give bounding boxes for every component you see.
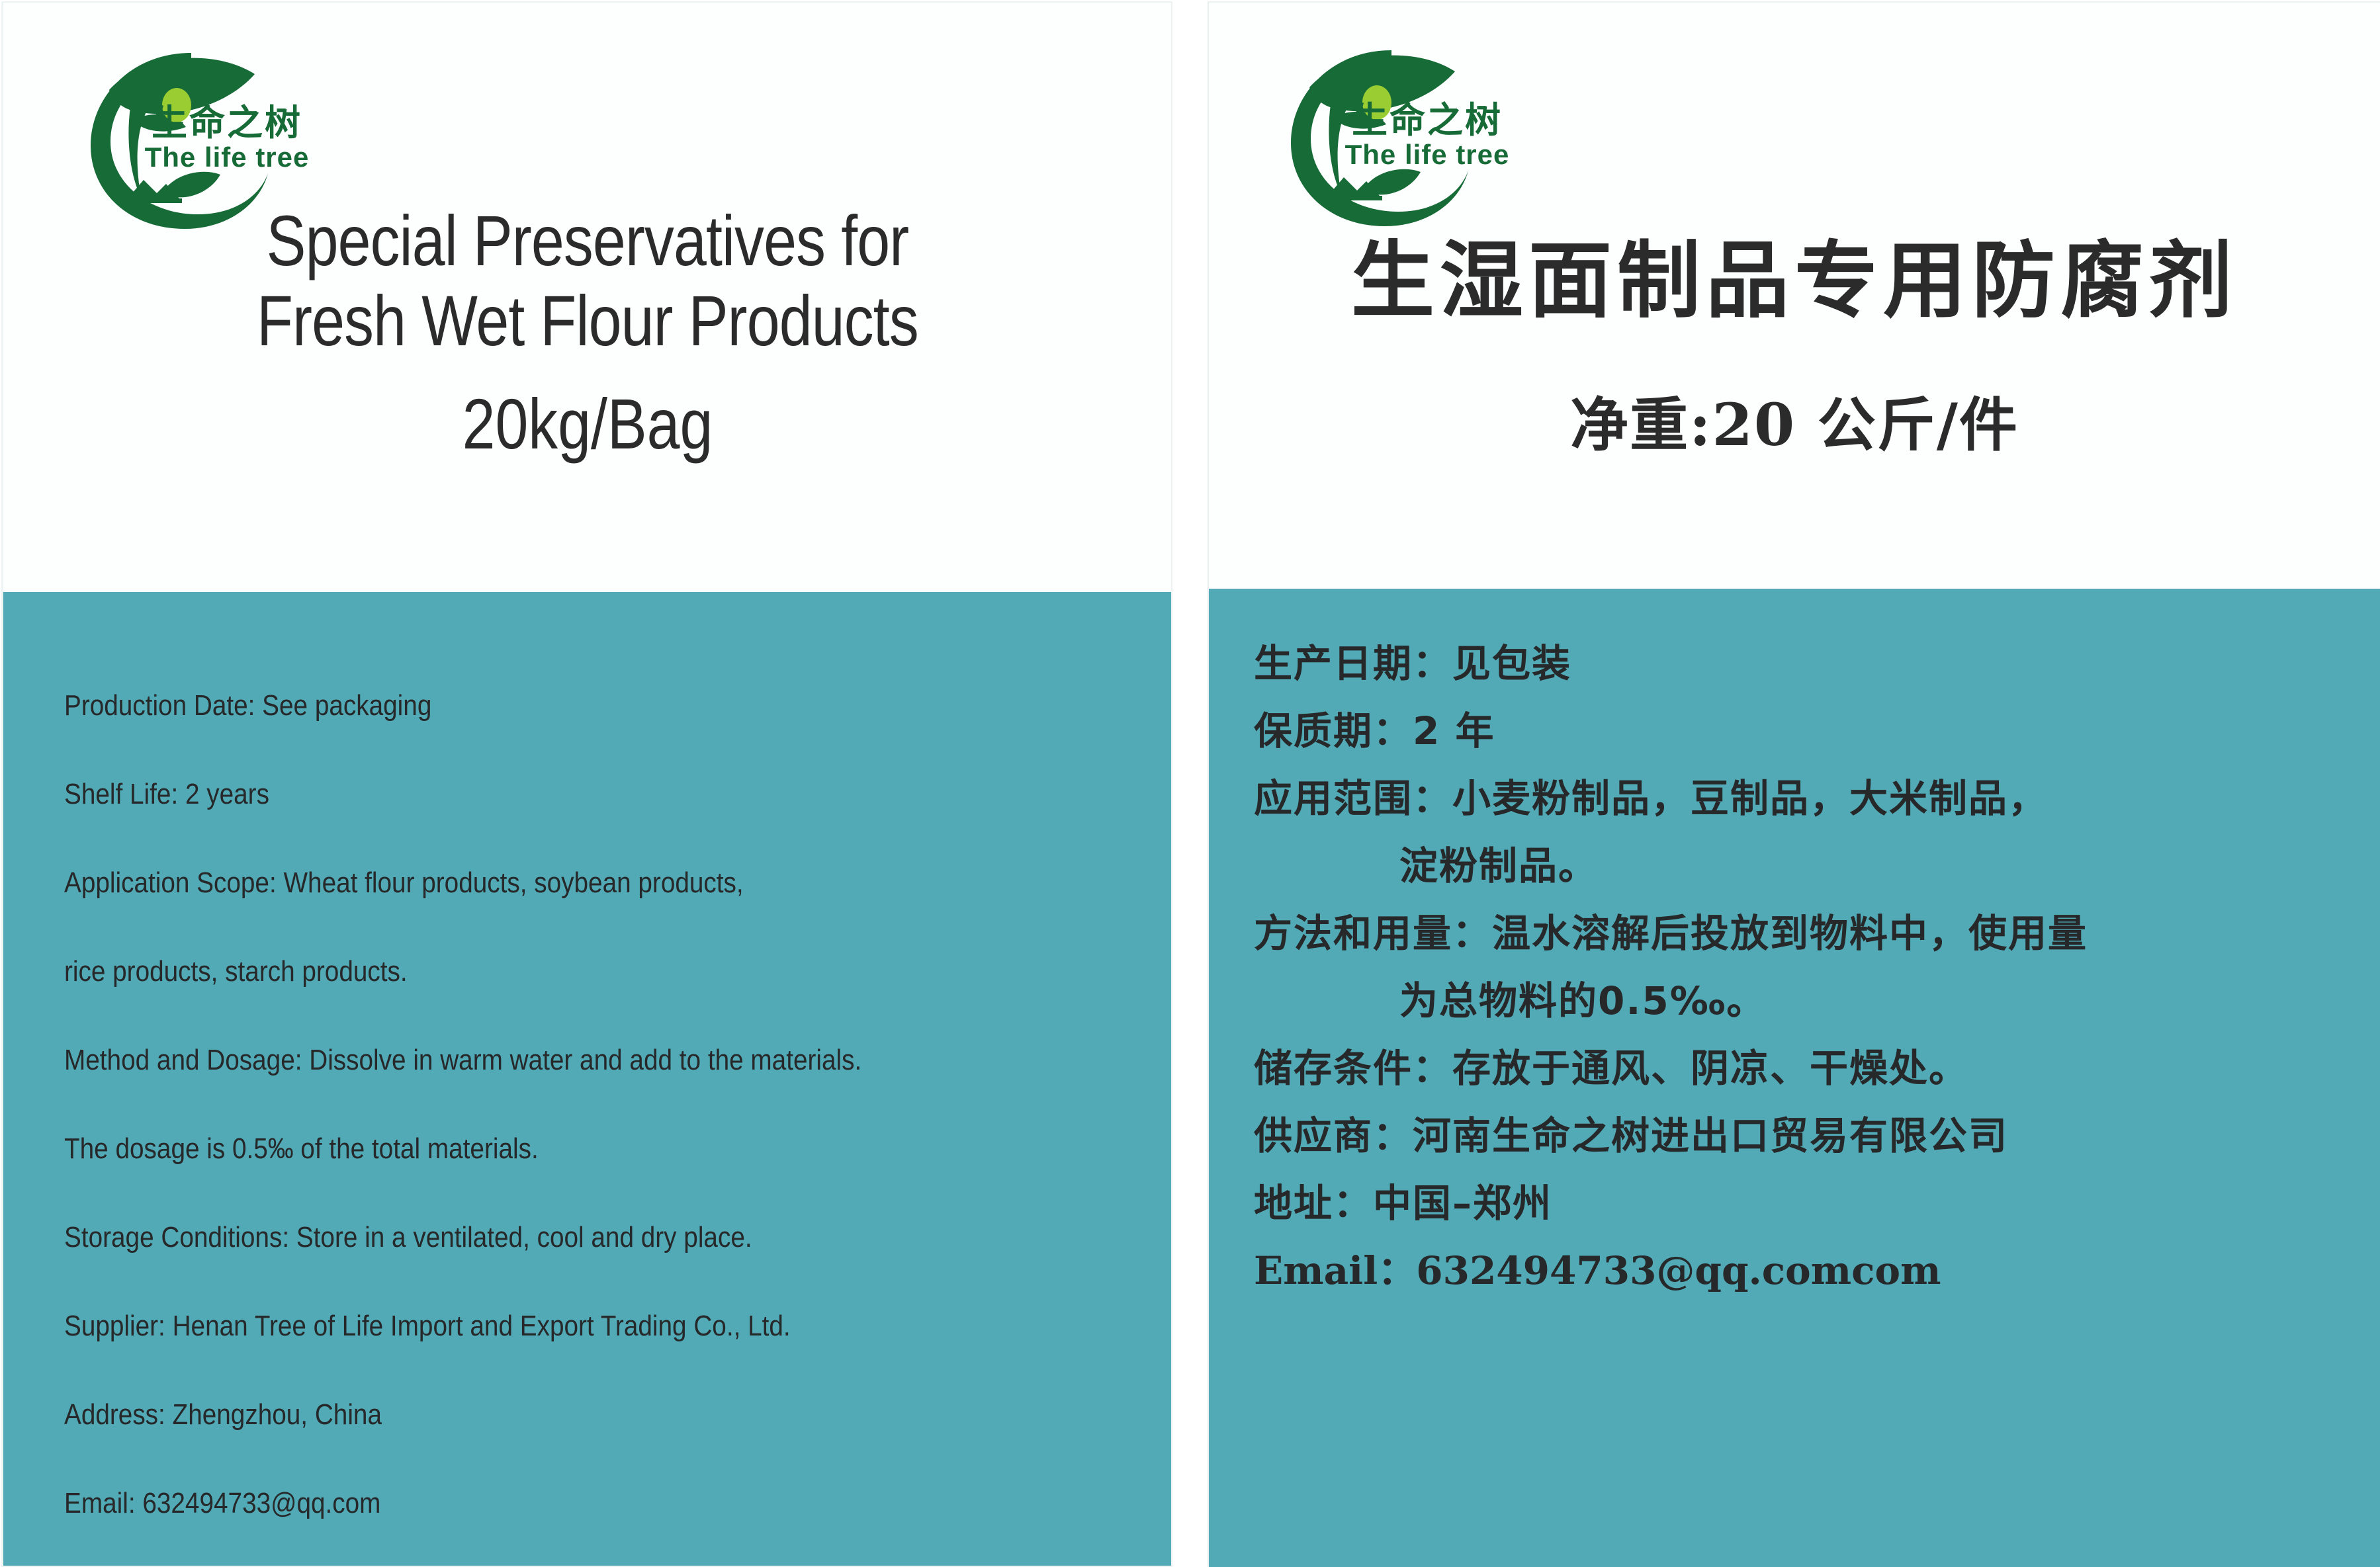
chinese-label-panel: 生命之树 The life tree 生湿面制品专用防腐剂 净重:20 公斤/件…: [1208, 1, 2380, 1567]
product-label-sheet: 生命之树 The life tree Special Preservatives…: [0, 0, 2380, 1567]
detail-line-dosage-amount: The dosage is 0.5‰ of the total material…: [64, 1105, 1008, 1193]
detail-line-production-date-cn: 生产日期：见包装: [1254, 630, 2352, 697]
detail-line-application-scope: Application Scope: Wheat flour products,…: [64, 839, 1008, 927]
english-net-weight: 20kg/Bag: [103, 385, 1073, 464]
detail-line-production-date: Production Date: See packaging: [64, 661, 1008, 750]
chinese-product-title: 生湿面制品专用防腐剂: [1209, 234, 2380, 327]
logo-brand-en: The life tree: [145, 142, 310, 173]
detail-line-supplier: Supplier: Henan Tree of Life Import and …: [64, 1282, 1008, 1371]
detail-line-shelf-life: Shelf Life: 2 years: [64, 750, 1008, 839]
logo-brand-cn: 生命之树: [1352, 99, 1503, 141]
english-detail-list: Production Date: See packaging Shelf Lif…: [64, 661, 1136, 1548]
english-header-area: 生命之树 The life tree Special Preservatives…: [3, 3, 1171, 592]
detail-line-method-dosage-cn: 方法和用量：温水溶解后投放到物料中，使用量: [1254, 900, 2352, 967]
detail-line-application-scope-cn-cont: 淀粉制品。: [1254, 832, 2352, 900]
detail-line-address: Address: Zhengzhou, China: [64, 1371, 1008, 1459]
chinese-detail-list: 生产日期：见包装 保质期：2 年 应用范围：小麦粉制品，豆制品，大米制品， 淀粉…: [1254, 630, 2352, 1304]
logo-brand-cn: 生命之树: [152, 102, 302, 144]
detail-line-storage-cn: 储存条件：存放于通风、阴凉、干燥处。: [1254, 1035, 2352, 1102]
chinese-details-area: 生产日期：见包装 保质期：2 年 应用范围：小麦粉制品，豆制品，大米制品， 淀粉…: [1209, 589, 2380, 1567]
detail-line-address-cn: 地址：中国–郑州: [1254, 1169, 2352, 1237]
detail-line-supplier-cn: 供应商：河南生命之树进出口贸易有限公司: [1254, 1102, 2352, 1169]
detail-line-dosage-amount-cn: 为总物料的0.5‰。: [1254, 967, 2352, 1035]
detail-line-email-cn: Email：632494733@qq.comcom: [1254, 1237, 2352, 1304]
english-product-title: Special Preservatives for Fresh Wet Flou…: [103, 201, 1073, 361]
logo-brand-en: The life tree: [1345, 139, 1510, 170]
chinese-header-area: 生命之树 The life tree 生湿面制品专用防腐剂 净重:20 公斤/件: [1209, 3, 2380, 589]
english-details-area: Production Date: See packaging Shelf Lif…: [3, 592, 1171, 1566]
detail-line-application-scope-cont: rice products, starch products.: [64, 927, 1008, 1016]
detail-line-application-scope-cn: 应用范围：小麦粉制品，豆制品，大米制品，: [1254, 765, 2352, 832]
detail-line-method-dosage: Method and Dosage: Dissolve in warm wate…: [64, 1016, 1008, 1105]
brand-logo-chinese: 生命之树 The life tree: [1262, 34, 1573, 233]
detail-line-email: Email: 632494733@qq.com: [64, 1459, 1008, 1548]
detail-line-storage: Storage Conditions: Store in a ventilate…: [64, 1193, 1008, 1282]
life-tree-logo-icon: 生命之树 The life tree: [1262, 34, 1573, 233]
english-label-panel: 生命之树 The life tree Special Preservatives…: [1, 1, 1172, 1567]
detail-line-shelf-life-cn: 保质期：2 年: [1254, 697, 2352, 765]
chinese-net-weight: 净重:20 公斤/件: [1209, 393, 2380, 457]
